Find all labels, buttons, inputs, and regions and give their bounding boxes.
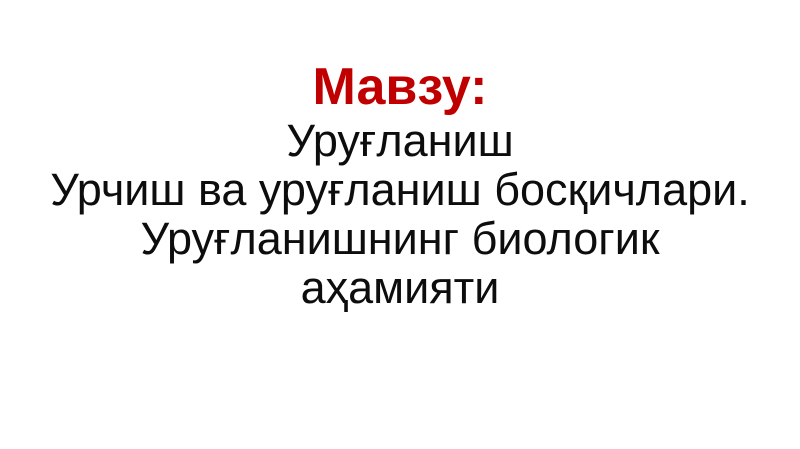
title-text-block: Мавзу: Уруғланиш Урчиш ва уруғланиш босқ… [0,0,800,312]
slide-subtitle-line-2: Урчиш ва уруғланиш босқичлари. [0,165,800,214]
slide-canvas: Мавзу: Уруғланиш Урчиш ва уруғланиш босқ… [0,0,800,449]
slide-subtitle-line-4: аҳамияти [0,263,800,312]
slide-heading: Мавзу: [0,58,800,116]
slide-subtitle-line-1: Уруғланиш [0,116,800,165]
slide-subtitle-line-3: Уруғланишнинг биологик [0,214,800,263]
